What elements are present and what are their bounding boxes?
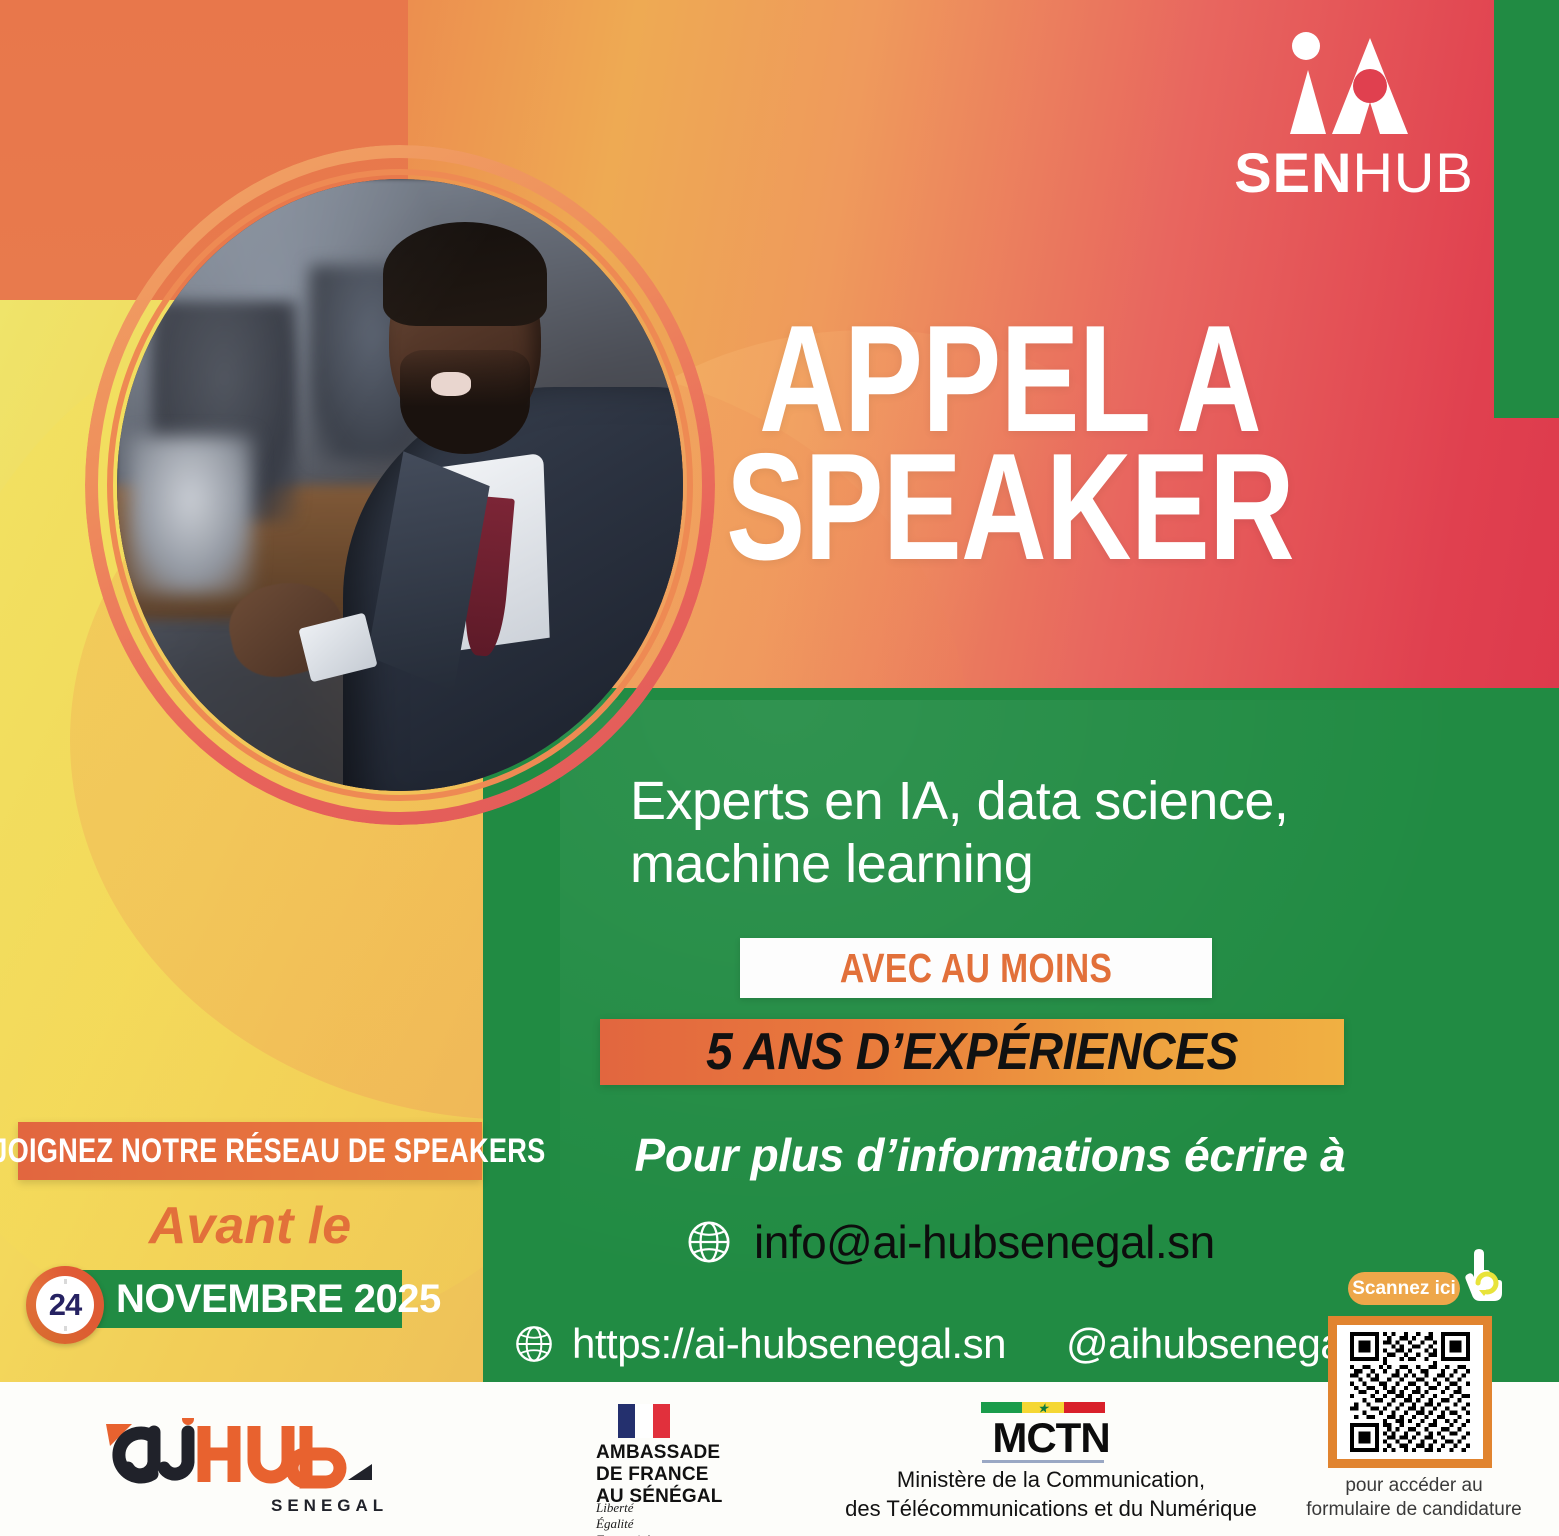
background-green-right-strip xyxy=(1494,0,1559,418)
experience-badge-top-label: AVEC AU MOINS xyxy=(840,945,1112,992)
qr-code-icon[interactable] xyxy=(1328,1316,1492,1468)
qr-caption-line-2: formulaire de candidature xyxy=(1288,1498,1540,1522)
ambassade-line-1: AMBASSADE xyxy=(596,1442,723,1464)
email-row[interactable]: info@ai-hubsenegal.sn xyxy=(686,1215,1215,1269)
mctn-subtitle-line-2: des Télécommunications et du Numérique xyxy=(836,1495,1266,1524)
ai-hub-senegal-logo: SENEGAL xyxy=(96,1418,406,1526)
mctn-divider xyxy=(982,1460,1104,1463)
globe-icon xyxy=(686,1219,732,1265)
flag-red xyxy=(653,1404,670,1438)
poster-canvas: SENHUB APPEL A SPEAKER Experts en IA, da… xyxy=(0,0,1559,1536)
page-title: APPEL A SPEAKER xyxy=(690,316,1330,571)
subheading-line-1: Experts en IA, data science, xyxy=(630,770,1390,833)
ambassade-title: AMBASSADE DE FRANCE AU SÉNÉGAL xyxy=(596,1442,723,1508)
speaker-photo xyxy=(117,179,683,791)
motto-liberte: Liberté xyxy=(596,1500,649,1516)
speaker-photo-frame xyxy=(85,145,715,825)
ai-hub-senegal-logo-icon xyxy=(96,1418,406,1498)
qr-caption-line-1: pour accéder au xyxy=(1288,1474,1540,1498)
scan-here-badge: Scannez ici xyxy=(1348,1272,1460,1305)
flag-yellow: ★ xyxy=(1022,1402,1063,1413)
photo-sheen xyxy=(117,179,683,791)
headline-line-2: SPEAKER xyxy=(690,444,1330,572)
deadline-prefix: Avant le xyxy=(18,1196,482,1256)
qr-code-matrix xyxy=(1344,1332,1476,1452)
website-url: https://ai-hubsenegal.sn xyxy=(572,1320,1006,1368)
scan-here-label: Scannez ici xyxy=(1352,1278,1456,1300)
pointing-hand-icon xyxy=(1460,1248,1506,1310)
mctn-acronym: MCTN xyxy=(836,1414,1266,1462)
experience-badge-bottom: 5 ANS D’EXPÉRIENCES xyxy=(600,1019,1344,1085)
subheading: Experts en IA, data science, machine lea… xyxy=(630,770,1390,895)
deadline-date-banner: NOVEMBRE 2025 xyxy=(64,1270,402,1328)
qr-caption: pour accéder au formulaire de candidatur… xyxy=(1288,1474,1540,1522)
experience-badge-top: AVEC AU MOINS xyxy=(740,938,1212,998)
more-info-text: Pour plus d’informations écrire à xyxy=(610,1128,1370,1182)
mctn-logo: ★ MCTN Ministère de la Communication, de… xyxy=(836,1402,1266,1532)
join-network-banner: REJOIGNEZ NOTRE RÉSEAU DE SPEAKERS xyxy=(18,1122,482,1180)
flag-red xyxy=(1064,1402,1105,1413)
experience-badge-bottom-label: 5 ANS D’EXPÉRIENCES xyxy=(706,1022,1238,1082)
motto-egalite: Égalité xyxy=(596,1516,649,1532)
ai-hub-senegal-subtitle: SENEGAL xyxy=(271,1496,388,1516)
join-network-label: REJOIGNEZ NOTRE RÉSEAU DE SPEAKERS xyxy=(0,1132,546,1171)
flag-white xyxy=(635,1404,652,1438)
french-republic-flag-icon xyxy=(618,1404,670,1438)
clock-icon: 24 xyxy=(26,1266,104,1344)
mctn-subtitle: Ministère de la Communication, des Téléc… xyxy=(836,1466,1266,1523)
social-handle[interactable]: @aihubsenegal xyxy=(1066,1320,1352,1368)
deadline-month-year: NOVEMBRE 2025 xyxy=(116,1277,441,1322)
flag-green xyxy=(981,1402,1022,1413)
qr-code-inner xyxy=(1337,1325,1483,1459)
flag-blue xyxy=(618,1404,635,1438)
senhub-wordmark: SENHUB xyxy=(1228,140,1480,205)
senegal-flag-icon: ★ xyxy=(981,1402,1105,1413)
ambassade-de-france-logo: AMBASSADE DE FRANCE AU SÉNÉGAL Liberté É… xyxy=(586,1404,766,1532)
senhub-sen: SEN xyxy=(1234,141,1352,204)
clock-face: 24 xyxy=(36,1276,94,1334)
flag-star: ★ xyxy=(1037,1401,1049,1414)
mctn-subtitle-line-1: Ministère de la Communication, xyxy=(836,1466,1266,1495)
website-link[interactable]: https://ai-hubsenegal.sn xyxy=(514,1320,1006,1368)
ambassade-motto: Liberté Égalité Fraternité xyxy=(596,1500,649,1536)
ia-senhub-logo-icon xyxy=(1228,30,1480,142)
senhub-hub: HUB xyxy=(1352,141,1473,204)
subheading-line-2: machine learning xyxy=(630,833,1390,896)
senhub-logo: SENHUB xyxy=(1228,30,1480,200)
email-address[interactable]: info@ai-hubsenegal.sn xyxy=(754,1215,1215,1269)
motto-fraternite: Fraternité xyxy=(596,1532,649,1536)
ambassade-line-2: DE FRANCE xyxy=(596,1464,723,1486)
links-row: https://ai-hubsenegal.sn @aihubsenegal xyxy=(514,1320,1352,1368)
globe-icon xyxy=(514,1324,554,1364)
deadline-day: 24 xyxy=(49,1287,81,1323)
